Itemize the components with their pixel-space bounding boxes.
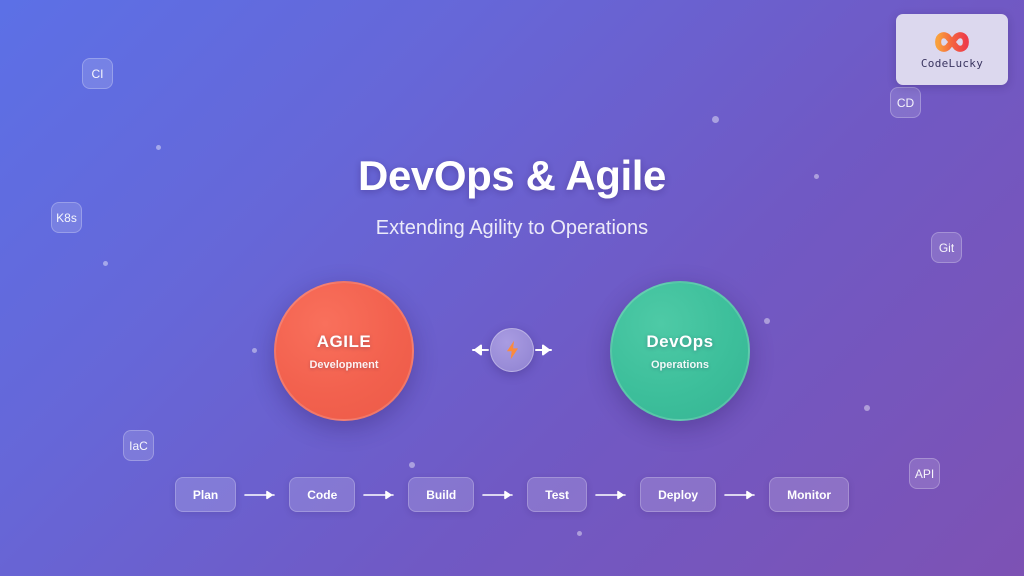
pipeline-stage-plan[interactable]: Plan: [175, 477, 236, 512]
page-subtitle: Extending Agility to Operations: [0, 217, 1024, 240]
tech-tag-ci[interactable]: CI: [82, 58, 113, 89]
header-block: DevOps & Agile Extending Agility to Oper…: [0, 152, 1024, 240]
pipeline-stage-deploy[interactable]: Deploy: [640, 477, 716, 512]
devops-circle[interactable]: DevOps Operations: [610, 281, 750, 421]
pipeline-arrow-icon: [244, 489, 281, 501]
devops-circle-subtitle: Operations: [651, 359, 709, 371]
tech-tag-iac[interactable]: IaC: [123, 430, 154, 461]
lightning-bolt-icon: [506, 340, 519, 360]
agile-circle[interactable]: AGILE Development: [274, 281, 414, 421]
infinity-icon: [924, 29, 980, 55]
arrow-left-icon: [467, 343, 489, 357]
devops-pipeline: PlanCodeBuildTestDeployMonitor: [0, 477, 1024, 512]
pipeline-stage-build[interactable]: Build: [408, 477, 474, 512]
devops-circle-title: DevOps: [646, 332, 713, 352]
tech-tag-cd[interactable]: CD: [890, 87, 921, 118]
pipeline-stage-test[interactable]: Test: [527, 477, 587, 512]
pipeline-arrow-icon: [724, 489, 761, 501]
agile-circle-title: AGILE: [317, 332, 371, 352]
logo-wordmark: CodeLucky: [921, 57, 983, 70]
codelucky-logo-card[interactable]: CodeLucky: [896, 14, 1008, 85]
decorative-dot: [764, 318, 770, 324]
decorative-dot: [712, 116, 719, 123]
decorative-dot: [103, 261, 108, 266]
decorative-dot: [156, 145, 161, 150]
circles-connector: [466, 326, 558, 374]
connector-bolt-badge[interactable]: [490, 328, 534, 372]
arrow-right-icon: [535, 343, 557, 357]
pipeline-stage-code[interactable]: Code: [289, 477, 355, 512]
pipeline-stage-monitor[interactable]: Monitor: [769, 477, 849, 512]
decorative-dot: [409, 462, 415, 468]
decorative-dot: [577, 531, 582, 536]
agile-circle-subtitle: Development: [309, 359, 378, 371]
pipeline-arrow-icon: [363, 489, 400, 501]
decorative-dot: [864, 405, 870, 411]
decorative-dot: [252, 348, 257, 353]
page-title: DevOps & Agile: [0, 152, 1024, 200]
pipeline-arrow-icon: [482, 489, 519, 501]
pipeline-arrow-icon: [595, 489, 632, 501]
